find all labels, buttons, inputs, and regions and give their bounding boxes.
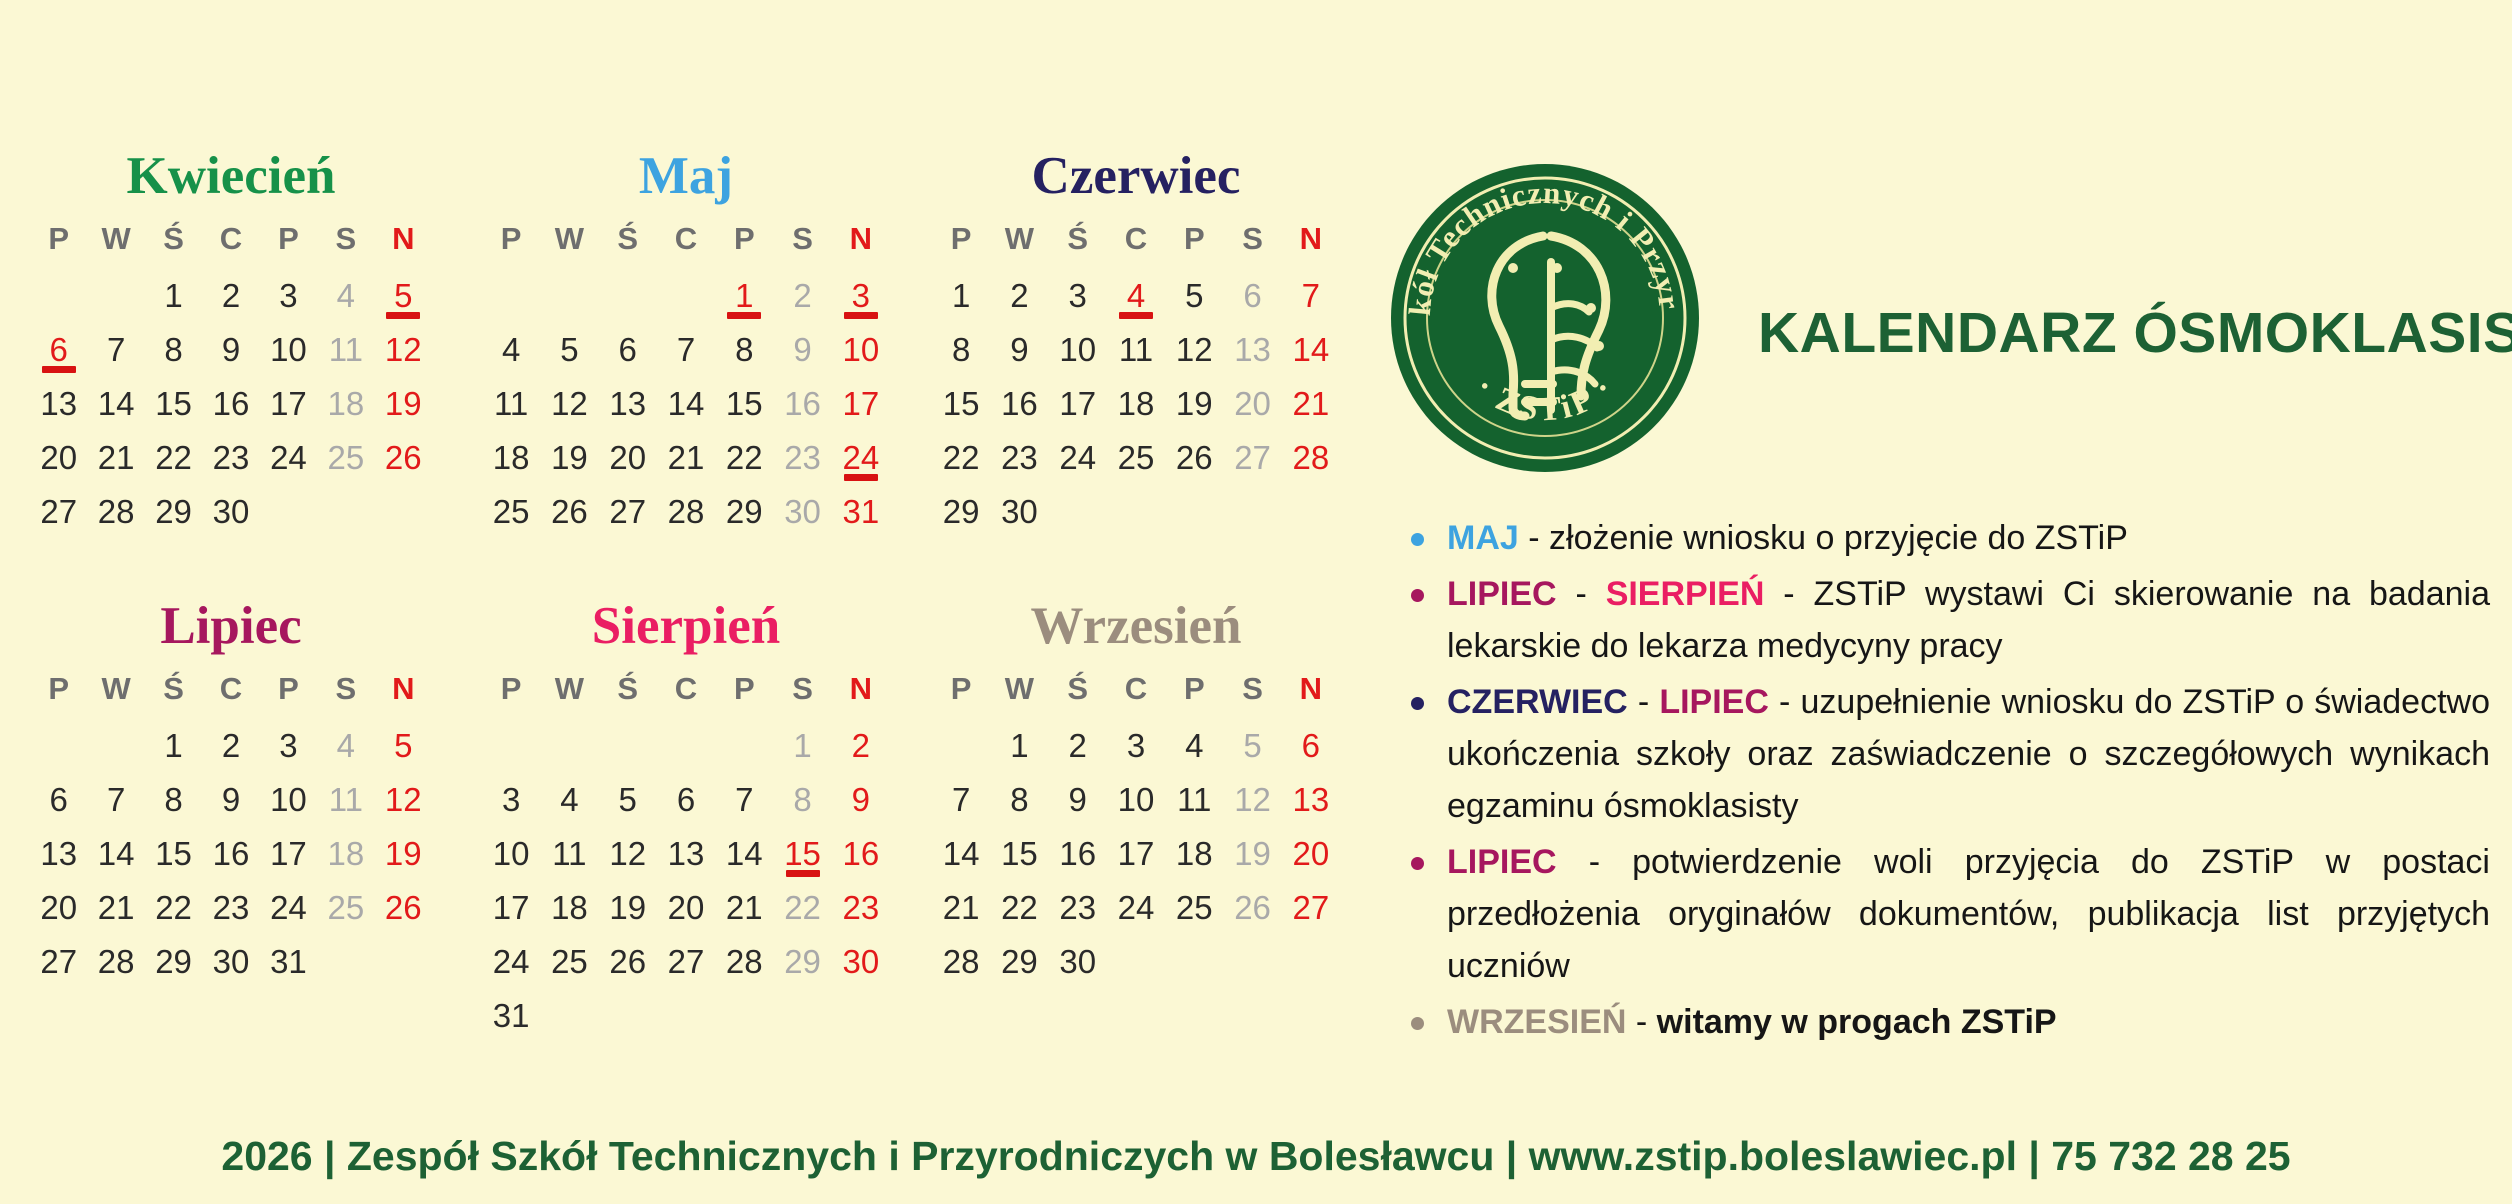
weekday-header-0: P — [30, 221, 87, 257]
day-cell: 1 — [990, 725, 1048, 766]
day-cell: 27 — [1282, 887, 1340, 928]
day-cell: 27 — [1223, 437, 1281, 478]
day-cell: 29 — [715, 491, 773, 532]
weekday-header-1: W — [540, 221, 598, 257]
weekday-header-1: W — [87, 221, 144, 257]
day-cell: 20 — [1223, 383, 1281, 424]
day-cell: 31 — [832, 491, 890, 532]
day-cell: 30 — [990, 491, 1048, 532]
weekday-header-2: Ś — [1049, 671, 1107, 707]
month-title: Lipiec — [30, 600, 432, 653]
day-cell: 12 — [375, 779, 432, 820]
weekday-header-2: Ś — [145, 671, 202, 707]
page-title: KALENDARZ ÓSMOKLASISTY — [1758, 300, 2512, 366]
day-cell: 24 — [260, 437, 317, 478]
milestone-item: MAJ - złożenie wniosku o przyjęcie do ZS… — [1405, 512, 2490, 564]
milestone-text-part: MAJ — [1447, 519, 1519, 557]
day-cell: 24 — [832, 437, 890, 478]
day-cell: 1 — [773, 725, 831, 766]
day-cell: 29 — [932, 491, 990, 532]
day-cell: 5 — [375, 275, 432, 316]
day-cell: 24 — [1049, 437, 1107, 478]
weekday-header-5: S — [773, 221, 831, 257]
weekday-header-3: C — [1107, 221, 1165, 257]
day-cell: 2 — [202, 275, 259, 316]
day-cell: 4 — [540, 779, 598, 820]
bullet-dot-icon — [1411, 533, 1424, 546]
weekday-header-6: N — [832, 221, 890, 257]
day-cell: 11 — [317, 779, 374, 820]
day-cell: 23 — [202, 437, 259, 478]
milestone-text-part: LIPIEC — [1447, 575, 1557, 613]
day-cell: 17 — [1049, 383, 1107, 424]
weekday-header-4: P — [1165, 221, 1223, 257]
day-cell: 31 — [260, 941, 317, 982]
day-cell: 25 — [317, 437, 374, 478]
milestone-text-part: LIPIEC — [1447, 843, 1557, 881]
month-block-czerwiec: CzerwiecPWŚCPSN1234567891011121314151617… — [910, 150, 1360, 600]
day-cell: 22 — [715, 437, 773, 478]
day-cell: 7 — [657, 329, 715, 370]
day-cell: 21 — [87, 437, 144, 478]
day-cell: 4 — [482, 329, 540, 370]
day-cell: 2 — [773, 275, 831, 316]
weekday-header-3: C — [1107, 671, 1165, 707]
day-cell: 5 — [1165, 275, 1223, 316]
day-cell: 27 — [30, 941, 87, 982]
day-cell: 26 — [375, 437, 432, 478]
month-block-lipiec: LipiecPWŚCPSN..1234567891011121314151617… — [0, 600, 460, 1050]
month-title: Maj — [482, 150, 890, 203]
day-cell: 28 — [87, 491, 144, 532]
month-block-sierpień: SierpieńPWŚCPSN.....12345678910111213141… — [460, 600, 910, 1050]
day-cell: 19 — [599, 887, 657, 928]
day-cell: 8 — [715, 329, 773, 370]
day-cell: 9 — [832, 779, 890, 820]
day-grid: .123456789101112131415161718192021222324… — [932, 725, 1340, 982]
day-cell: 14 — [657, 383, 715, 424]
weekday-header-5: S — [317, 221, 374, 257]
weekday-header-5: S — [773, 671, 831, 707]
day-cell: 9 — [202, 779, 259, 820]
day-cell: 16 — [990, 383, 1048, 424]
month-title: Kwiecień — [30, 150, 432, 203]
bullet-dot-icon — [1411, 697, 1424, 710]
day-cell: 25 — [1107, 437, 1165, 478]
day-cell: 19 — [375, 383, 432, 424]
day-cell: 20 — [1282, 833, 1340, 874]
milestone-item: WRZESIEŃ - witamy w progach ZSTiP — [1405, 996, 2490, 1048]
day-cell: 2 — [1049, 725, 1107, 766]
day-cell: 12 — [540, 383, 598, 424]
day-cell: 22 — [932, 437, 990, 478]
day-cell: 22 — [990, 887, 1048, 928]
day-cell: 8 — [145, 779, 202, 820]
day-cell: 11 — [1165, 779, 1223, 820]
day-cell: 23 — [1049, 887, 1107, 928]
day-cell: 30 — [832, 941, 890, 982]
day-cell: 9 — [773, 329, 831, 370]
day-cell: 29 — [145, 491, 202, 532]
day-cell: 4 — [317, 275, 374, 316]
day-cell: 17 — [832, 383, 890, 424]
weekday-header-2: Ś — [599, 671, 657, 707]
day-cell: 25 — [540, 941, 598, 982]
day-cell: 22 — [145, 437, 202, 478]
day-grid: ..12345678910111213141516171819202122232… — [30, 725, 432, 982]
calendar-poster: KwiecieńPWŚCPSN..12345678910111213141516… — [0, 0, 2512, 1204]
day-cell: 11 — [540, 833, 598, 874]
day-cell: 19 — [375, 833, 432, 874]
weekday-header-4: P — [260, 671, 317, 707]
day-cell: 10 — [260, 779, 317, 820]
weekday-header-1: W — [990, 221, 1048, 257]
weekday-header-3: C — [657, 221, 715, 257]
day-cell: 12 — [599, 833, 657, 874]
day-cell: 13 — [30, 383, 87, 424]
milestone-item: LIPIEC - potwierdzenie woli przyjęcia do… — [1405, 836, 2490, 992]
day-cell: 13 — [30, 833, 87, 874]
milestone-text-part: SIERPIEŃ — [1606, 575, 1765, 613]
weekday-header-3: C — [202, 221, 259, 257]
day-cell: 23 — [773, 437, 831, 478]
day-cell: 17 — [1107, 833, 1165, 874]
day-cell: 24 — [260, 887, 317, 928]
day-cell: 11 — [482, 383, 540, 424]
day-cell: 19 — [540, 437, 598, 478]
weekday-header-1: W — [87, 671, 144, 707]
weekday-header-6: N — [1282, 671, 1340, 707]
day-grid: 1234567891011121314151617181920212223242… — [932, 275, 1340, 532]
day-cell: 29 — [145, 941, 202, 982]
day-cell: 9 — [1049, 779, 1107, 820]
day-cell: 26 — [540, 491, 598, 532]
milestone-item: LIPIEC - SIERPIEŃ - ZSTiP wystawi Ci ski… — [1405, 568, 2490, 672]
day-cell: 2 — [832, 725, 890, 766]
day-cell: 18 — [317, 383, 374, 424]
day-cell: 10 — [260, 329, 317, 370]
day-cell: 4 — [317, 725, 374, 766]
day-cell: 30 — [1049, 941, 1107, 982]
day-cell: 22 — [145, 887, 202, 928]
day-cell: 15 — [932, 383, 990, 424]
weekday-header-row: PWŚCPSN — [30, 671, 432, 707]
day-cell: 12 — [1165, 329, 1223, 370]
weekday-header-5: S — [1223, 221, 1281, 257]
day-cell: 17 — [482, 887, 540, 928]
day-cell: 21 — [87, 887, 144, 928]
weekday-header-4: P — [1165, 671, 1223, 707]
day-cell: 5 — [1223, 725, 1281, 766]
day-cell: 2 — [990, 275, 1048, 316]
day-cell: 5 — [540, 329, 598, 370]
month-block-kwiecień: KwiecieńPWŚCPSN..12345678910111213141516… — [0, 150, 460, 600]
day-cell: 13 — [1282, 779, 1340, 820]
day-cell: 14 — [715, 833, 773, 874]
school-logo: Zespół Szkół Technicznych i Przyrodniczy… — [1385, 158, 1705, 478]
day-cell: 14 — [87, 383, 144, 424]
day-cell: 27 — [30, 491, 87, 532]
day-cell: 3 — [482, 779, 540, 820]
day-cell: 18 — [1107, 383, 1165, 424]
day-cell: 4 — [1165, 725, 1223, 766]
milestone-item: CZERWIEC - LIPIEC - uzupełnienie wniosku… — [1405, 676, 2490, 832]
day-cell: 19 — [1165, 383, 1223, 424]
day-cell: 25 — [1165, 887, 1223, 928]
day-cell: 19 — [1223, 833, 1281, 874]
milestone-text-part: - potwierdzenie woli przyjęcia do ZSTiP … — [1447, 843, 2490, 985]
day-cell: 21 — [1282, 383, 1340, 424]
day-cell: 9 — [202, 329, 259, 370]
day-cell: 26 — [599, 941, 657, 982]
day-cell: 1 — [715, 275, 773, 316]
day-cell: 10 — [482, 833, 540, 874]
day-cell: 23 — [832, 887, 890, 928]
day-cell: 2 — [202, 725, 259, 766]
month-title: Czerwiec — [932, 150, 1340, 203]
day-cell: 27 — [657, 941, 715, 982]
day-cell: 5 — [599, 779, 657, 820]
day-cell: 15 — [145, 833, 202, 874]
weekday-header-0: P — [30, 671, 87, 707]
day-grid: ..12345678910111213141516171819202122232… — [30, 275, 432, 532]
day-cell: 7 — [87, 329, 144, 370]
day-cell: 6 — [599, 329, 657, 370]
day-grid: ....123456789101112131415161718192021222… — [482, 275, 890, 532]
day-cell: 20 — [657, 887, 715, 928]
day-cell: 8 — [932, 329, 990, 370]
day-cell: 12 — [375, 329, 432, 370]
weekday-header-5: S — [1223, 671, 1281, 707]
day-cell: 16 — [832, 833, 890, 874]
day-cell: 26 — [1165, 437, 1223, 478]
day-cell: 8 — [145, 329, 202, 370]
day-cell: 3 — [260, 275, 317, 316]
day-cell: 7 — [932, 779, 990, 820]
month-block-wrzesień: WrzesieńPWŚCPSN.123456789101112131415161… — [910, 600, 1360, 1050]
weekday-header-row: PWŚCPSN — [482, 221, 890, 257]
day-cell: 26 — [1223, 887, 1281, 928]
day-cell: 1 — [145, 725, 202, 766]
day-cell: 6 — [30, 329, 87, 370]
day-cell: 20 — [30, 887, 87, 928]
weekday-header-1: W — [540, 671, 598, 707]
day-cell: 16 — [773, 383, 831, 424]
milestone-text-part: - — [1557, 575, 1606, 613]
day-cell: 9 — [990, 329, 1048, 370]
day-cell: 10 — [1049, 329, 1107, 370]
day-cell: 8 — [990, 779, 1048, 820]
day-cell: 18 — [482, 437, 540, 478]
weekday-header-row: PWŚCPSN — [932, 671, 1340, 707]
day-cell: 10 — [832, 329, 890, 370]
weekday-header-0: P — [932, 221, 990, 257]
weekday-header-0: P — [932, 671, 990, 707]
day-cell: 8 — [773, 779, 831, 820]
weekday-header-2: Ś — [599, 221, 657, 257]
weekday-header-3: C — [202, 671, 259, 707]
day-cell: 18 — [1165, 833, 1223, 874]
day-cell: 27 — [599, 491, 657, 532]
day-cell: 16 — [1049, 833, 1107, 874]
day-grid: .....12345678910111213141516171819202122… — [482, 725, 890, 1036]
day-cell: 29 — [773, 941, 831, 982]
day-cell: 25 — [317, 887, 374, 928]
day-cell: 3 — [1049, 275, 1107, 316]
milestone-text-part: CZERWIEC — [1447, 683, 1628, 721]
day-cell: 13 — [599, 383, 657, 424]
weekday-header-3: C — [657, 671, 715, 707]
weekday-header-1: W — [990, 671, 1048, 707]
day-cell: 25 — [482, 491, 540, 532]
day-cell: 16 — [202, 833, 259, 874]
day-cell: 20 — [599, 437, 657, 478]
day-cell: 30 — [202, 491, 259, 532]
day-cell: 7 — [1282, 275, 1340, 316]
day-cell: 7 — [87, 779, 144, 820]
day-cell: 14 — [87, 833, 144, 874]
weekday-header-4: P — [260, 221, 317, 257]
day-cell: 29 — [990, 941, 1048, 982]
weekday-header-6: N — [832, 671, 890, 707]
day-cell: 26 — [375, 887, 432, 928]
weekday-header-row: PWŚCPSN — [30, 221, 432, 257]
bullet-dot-icon — [1411, 1017, 1424, 1030]
day-cell: 13 — [657, 833, 715, 874]
day-cell: 20 — [30, 437, 87, 478]
day-cell: 30 — [773, 491, 831, 532]
day-cell: 15 — [990, 833, 1048, 874]
day-cell: 28 — [1282, 437, 1340, 478]
day-cell: 6 — [1282, 725, 1340, 766]
month-title: Wrzesień — [932, 600, 1340, 653]
day-cell: 5 — [375, 725, 432, 766]
day-cell: 21 — [715, 887, 773, 928]
bullet-dot-icon — [1411, 589, 1424, 602]
weekday-header-0: P — [482, 221, 540, 257]
weekday-header-5: S — [317, 671, 374, 707]
day-cell: 3 — [260, 725, 317, 766]
day-cell: 22 — [773, 887, 831, 928]
weekday-header-row: PWŚCPSN — [932, 221, 1340, 257]
day-cell: 10 — [1107, 779, 1165, 820]
milestone-text-part: - złożenie wniosku o przyjęcie do ZSTiP — [1519, 519, 2128, 557]
day-cell: 4 — [1107, 275, 1165, 316]
milestone-text-part: - — [1628, 683, 1660, 721]
weekday-header-0: P — [482, 671, 540, 707]
day-cell: 28 — [657, 491, 715, 532]
day-cell: 11 — [1107, 329, 1165, 370]
milestone-text-part: witamy w progach ZSTiP — [1657, 1003, 2057, 1041]
day-cell: 13 — [1223, 329, 1281, 370]
milestone-text-part: LIPIEC — [1659, 683, 1769, 721]
day-cell: 21 — [657, 437, 715, 478]
day-cell: 28 — [715, 941, 773, 982]
day-cell: 14 — [932, 833, 990, 874]
weekday-header-4: P — [715, 221, 773, 257]
day-cell: 18 — [540, 887, 598, 928]
weekday-header-6: N — [1282, 221, 1340, 257]
month-title: Sierpień — [482, 600, 890, 653]
day-cell: 12 — [1223, 779, 1281, 820]
day-cell: 16 — [202, 383, 259, 424]
day-cell: 11 — [317, 329, 374, 370]
day-cell: 31 — [482, 995, 540, 1036]
day-cell: 15 — [773, 833, 831, 874]
day-cell: 30 — [202, 941, 259, 982]
weekday-header-row: PWŚCPSN — [482, 671, 890, 707]
day-cell: 17 — [260, 833, 317, 874]
weekday-header-2: Ś — [145, 221, 202, 257]
day-cell: 21 — [932, 887, 990, 928]
day-cell: 15 — [715, 383, 773, 424]
milestone-text-part: - — [1626, 1003, 1656, 1041]
day-cell: 24 — [482, 941, 540, 982]
footer-contact: 2026 | Zespół Szkół Technicznych i Przyr… — [0, 1133, 2512, 1180]
weekday-header-4: P — [715, 671, 773, 707]
day-cell: 1 — [145, 275, 202, 316]
weekday-header-2: Ś — [1049, 221, 1107, 257]
day-cell: 23 — [202, 887, 259, 928]
day-cell: 6 — [1223, 275, 1281, 316]
weekday-header-6: N — [375, 221, 432, 257]
day-cell: 3 — [832, 275, 890, 316]
day-cell: 15 — [145, 383, 202, 424]
day-cell: 28 — [932, 941, 990, 982]
months-container: KwiecieńPWŚCPSN..12345678910111213141516… — [0, 150, 1360, 1050]
day-cell: 24 — [1107, 887, 1165, 928]
day-cell: 17 — [260, 383, 317, 424]
day-cell: 14 — [1282, 329, 1340, 370]
day-cell: 7 — [715, 779, 773, 820]
bullet-dot-icon — [1411, 857, 1424, 870]
day-cell: 23 — [990, 437, 1048, 478]
month-block-maj: MajPWŚCPSN....12345678910111213141516171… — [460, 150, 910, 600]
milestone-text-part: WRZESIEŃ — [1447, 1003, 1626, 1041]
milestones-list: MAJ - złożenie wniosku o przyjęcie do ZS… — [1405, 512, 2490, 1052]
day-cell: 6 — [657, 779, 715, 820]
day-cell: 3 — [1107, 725, 1165, 766]
day-cell: 6 — [30, 779, 87, 820]
day-cell: 1 — [932, 275, 990, 316]
weekday-header-6: N — [375, 671, 432, 707]
day-cell: 18 — [317, 833, 374, 874]
day-cell: 28 — [87, 941, 144, 982]
